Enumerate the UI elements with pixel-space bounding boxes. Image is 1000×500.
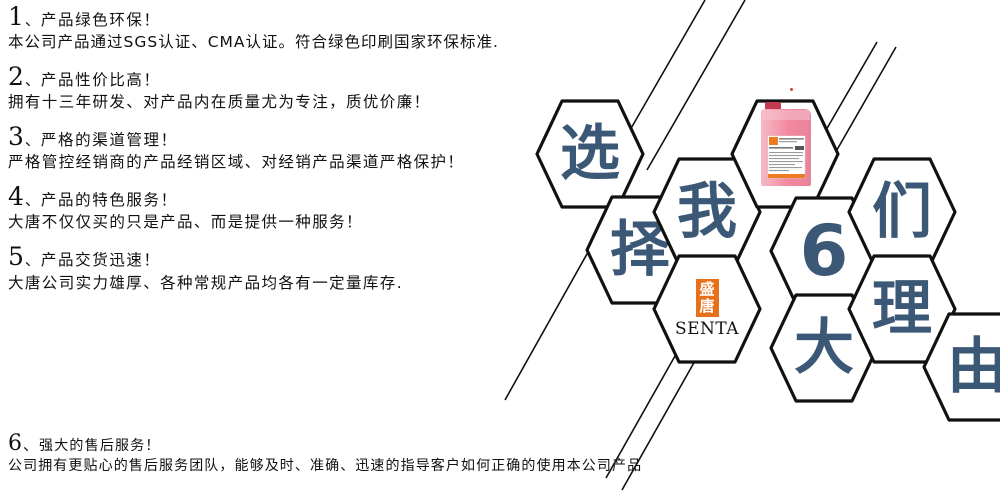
hex-label: 由 — [921, 311, 1000, 423]
reason-heading: 4 、 产品的特色服务！ — [8, 184, 568, 210]
reason-body: 公司拥有更贴心的售后服务团队，能够及时、准确、迅速的指导客户如何正确的使用本公司… — [8, 458, 998, 474]
reason-number: 1 — [8, 4, 24, 30]
reason-heading: 5 、 产品交货迅速！ — [8, 244, 568, 270]
hex-cell-you[interactable]: 由 — [921, 311, 1000, 423]
reason-body: 严格管控经销商的产品经销区域、对经销产品渠道严格保护！ — [8, 154, 568, 172]
reason-body: 拥有十三年研发、对产品内在质量尤为专注，质优价廉！ — [8, 94, 568, 112]
reason-item-6: 6 、 强大的售后服务！ 公司拥有更贴心的售后服务团队，能够及时、准确、迅速的指… — [8, 432, 998, 474]
reason-separator: 、 — [25, 253, 40, 269]
reason-separator: 、 — [25, 73, 40, 89]
hex-cell-logo[interactable]: 盛 唐 SENTA — [651, 253, 763, 365]
reason-title: 产品绿色环保！ — [41, 12, 161, 28]
reason-separator: 、 — [25, 13, 40, 29]
reason-number: 2 — [8, 64, 24, 90]
decorative-speck — [790, 88, 793, 91]
reason-body: 本公司产品通过SGS认证、CMA认证。符合绿色印刷国家环保标准. — [8, 34, 568, 52]
hex-label: 们 — [846, 156, 958, 268]
reason-separator: 、 — [25, 133, 40, 149]
hex-cell-product-image[interactable] — [729, 98, 841, 210]
reason-heading: 3 、 严格的渠道管理！ — [8, 124, 568, 150]
reason-item-1: 1 、 产品绿色环保！ 本公司产品通过SGS认证、CMA认证。符合绿色印刷国家环… — [8, 4, 568, 52]
reason-heading: 6 、 强大的售后服务！ — [8, 432, 998, 455]
logo-stamp-char-top: 盛 — [699, 282, 714, 297]
reason-number: 5 — [8, 244, 24, 270]
product-container-image — [757, 100, 815, 186]
reason-number: 3 — [8, 124, 24, 150]
reason-separator: 、 — [23, 438, 38, 454]
reason-title: 产品交货迅速！ — [41, 252, 161, 268]
reasons-list: 1 、 产品绿色环保！ 本公司产品通过SGS认证、CMA认证。符合绿色印刷国家环… — [8, 4, 568, 299]
brand-logo: 盛 唐 SENTA — [651, 253, 763, 365]
reason-title: 产品的特色服务！ — [41, 192, 178, 208]
reason-separator: 、 — [25, 193, 40, 209]
logo-stamp-char-bottom: 唐 — [699, 299, 714, 314]
reason-item-3: 3 、 严格的渠道管理！ 严格管控经销商的产品经销区域、对经销产品渠道严格保护！ — [8, 124, 568, 172]
reason-title: 产品性价比高！ — [41, 72, 161, 88]
logo-stamp-icon: 盛 唐 — [696, 279, 719, 317]
reason-item-5: 5 、 产品交货迅速！ 大唐公司实力雄厚、各种常规产品均各有一定量库存. — [8, 244, 568, 292]
reason-number: 4 — [8, 184, 24, 210]
reason-item-2: 2 、 产品性价比高！ 拥有十三年研发、对产品内在质量尤为专注，质优价廉！ — [8, 64, 568, 112]
reason-heading: 1 、 产品绿色环保！ — [8, 4, 568, 30]
logo-wordmark: SENTA — [675, 319, 739, 339]
reason-title: 强大的售后服务！ — [39, 439, 161, 454]
reason-heading: 2 、 产品性价比高！ — [8, 64, 568, 90]
reason-body: 大唐不仅仅买的只是产品、而是提供一种服务！ — [8, 214, 568, 232]
reason-item-4: 4 、 产品的特色服务！ 大唐不仅仅买的只是产品、而是提供一种服务！ — [8, 184, 568, 232]
reason-body: 大唐公司实力雄厚、各种常规产品均各有一定量库存. — [8, 275, 568, 293]
promo-banner: 1 、 产品绿色环保！ 本公司产品通过SGS认证、CMA认证。符合绿色印刷国家环… — [0, 0, 1000, 500]
reason-title: 严格的渠道管理！ — [41, 132, 178, 148]
hex-cell-men[interactable]: 们 — [846, 156, 958, 268]
reason-number: 6 — [8, 432, 22, 455]
